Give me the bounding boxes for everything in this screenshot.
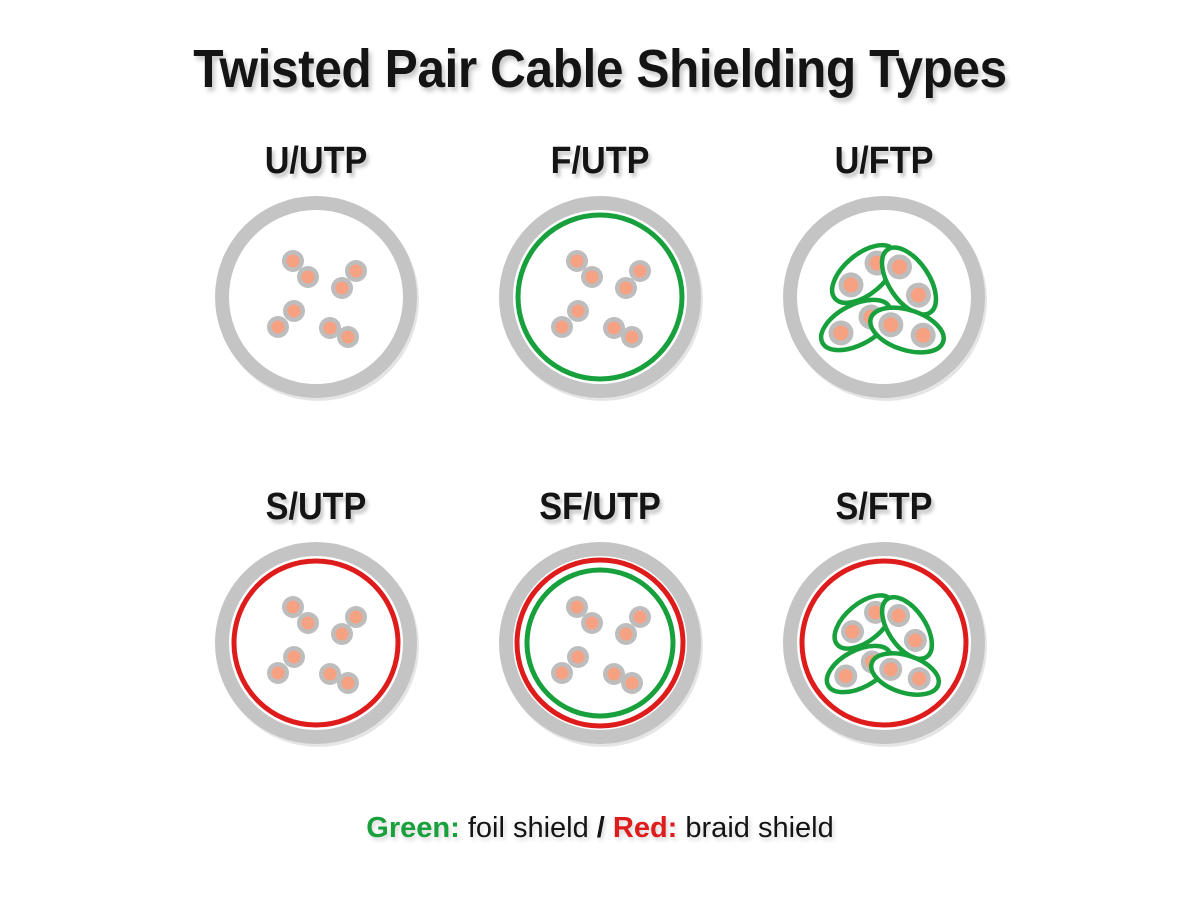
cable-jacket-ring [506,549,694,737]
cable-cross-section-sf-utp [499,542,701,744]
diagram-canvas: Twisted Pair Cable Shielding Types U/UTP [0,0,1200,900]
wire [581,612,603,634]
cable-diagram-sf-utp [499,542,701,744]
wire [615,277,637,299]
wire [629,260,651,282]
legend-red-text: braid shield [677,812,833,844]
wire [345,606,367,628]
legend-red-key: Red: [605,812,678,844]
cable-diagram-f-utp [499,196,701,398]
wire [345,260,367,282]
wire [551,662,573,684]
wire [297,612,319,634]
cable-diagram-u-ftp [783,196,985,398]
wire [331,623,353,645]
cable-label-s-utp: S/UTP [188,486,444,529]
cable-label-f-utp: F/UTP [472,140,728,183]
cable-label-u-utp: U/UTP [188,140,444,183]
wire [621,326,643,348]
wire [621,672,643,694]
wire [297,266,319,288]
cable-label-s-ftp: S/FTP [756,486,1012,529]
wire [551,316,573,338]
cable-diagram-u-utp [215,196,417,398]
cable-cross-section-u-utp [215,196,417,398]
cable-cell-s-ftp: S/FTP [742,486,1026,776]
page-title: Twisted Pair Cable Shielding Types [48,38,1152,100]
cable-diagram-s-ftp [783,542,985,744]
wire [337,672,359,694]
cable-jacket-ring [790,203,978,391]
wire [566,596,588,618]
cable-cell-f-utp: F/UTP [458,140,742,430]
cable-cell-s-utp: S/UTP [174,486,458,776]
cable-cell-sf-utp: SF/UTP [458,486,742,776]
legend-separator: / [597,812,605,844]
wire [267,662,289,684]
wire [567,646,589,668]
cable-jacket-ring [506,203,694,391]
cable-cross-section-s-utp [215,542,417,744]
wire [581,266,603,288]
cable-diagram-s-utp [215,542,417,744]
cable-cross-section-f-utp [499,196,701,398]
legend-green-key: Green: [366,812,459,844]
wire [267,316,289,338]
legend: Green: foil shield / Red: braid shield [0,812,1200,845]
wire [566,250,588,272]
wire [283,646,305,668]
cable-jacket-ring [222,549,410,737]
cable-cell-u-utp: U/UTP [174,140,458,430]
cable-label-sf-utp: SF/UTP [472,486,728,529]
wire [331,277,353,299]
cable-cross-section-u-ftp [783,196,985,398]
wire [283,300,305,322]
cable-cross-section-s-ftp [783,542,985,744]
cable-jacket-ring [790,549,978,737]
cable-cell-u-ftp: U/FTP [742,140,1026,430]
legend-green-text: foil shield [460,812,597,844]
cable-label-u-ftp: U/FTP [756,140,1012,183]
wire [282,596,304,618]
wire [629,606,651,628]
wire [615,623,637,645]
wire [567,300,589,322]
wire [282,250,304,272]
wire [337,326,359,348]
cable-jacket-ring [222,203,410,391]
